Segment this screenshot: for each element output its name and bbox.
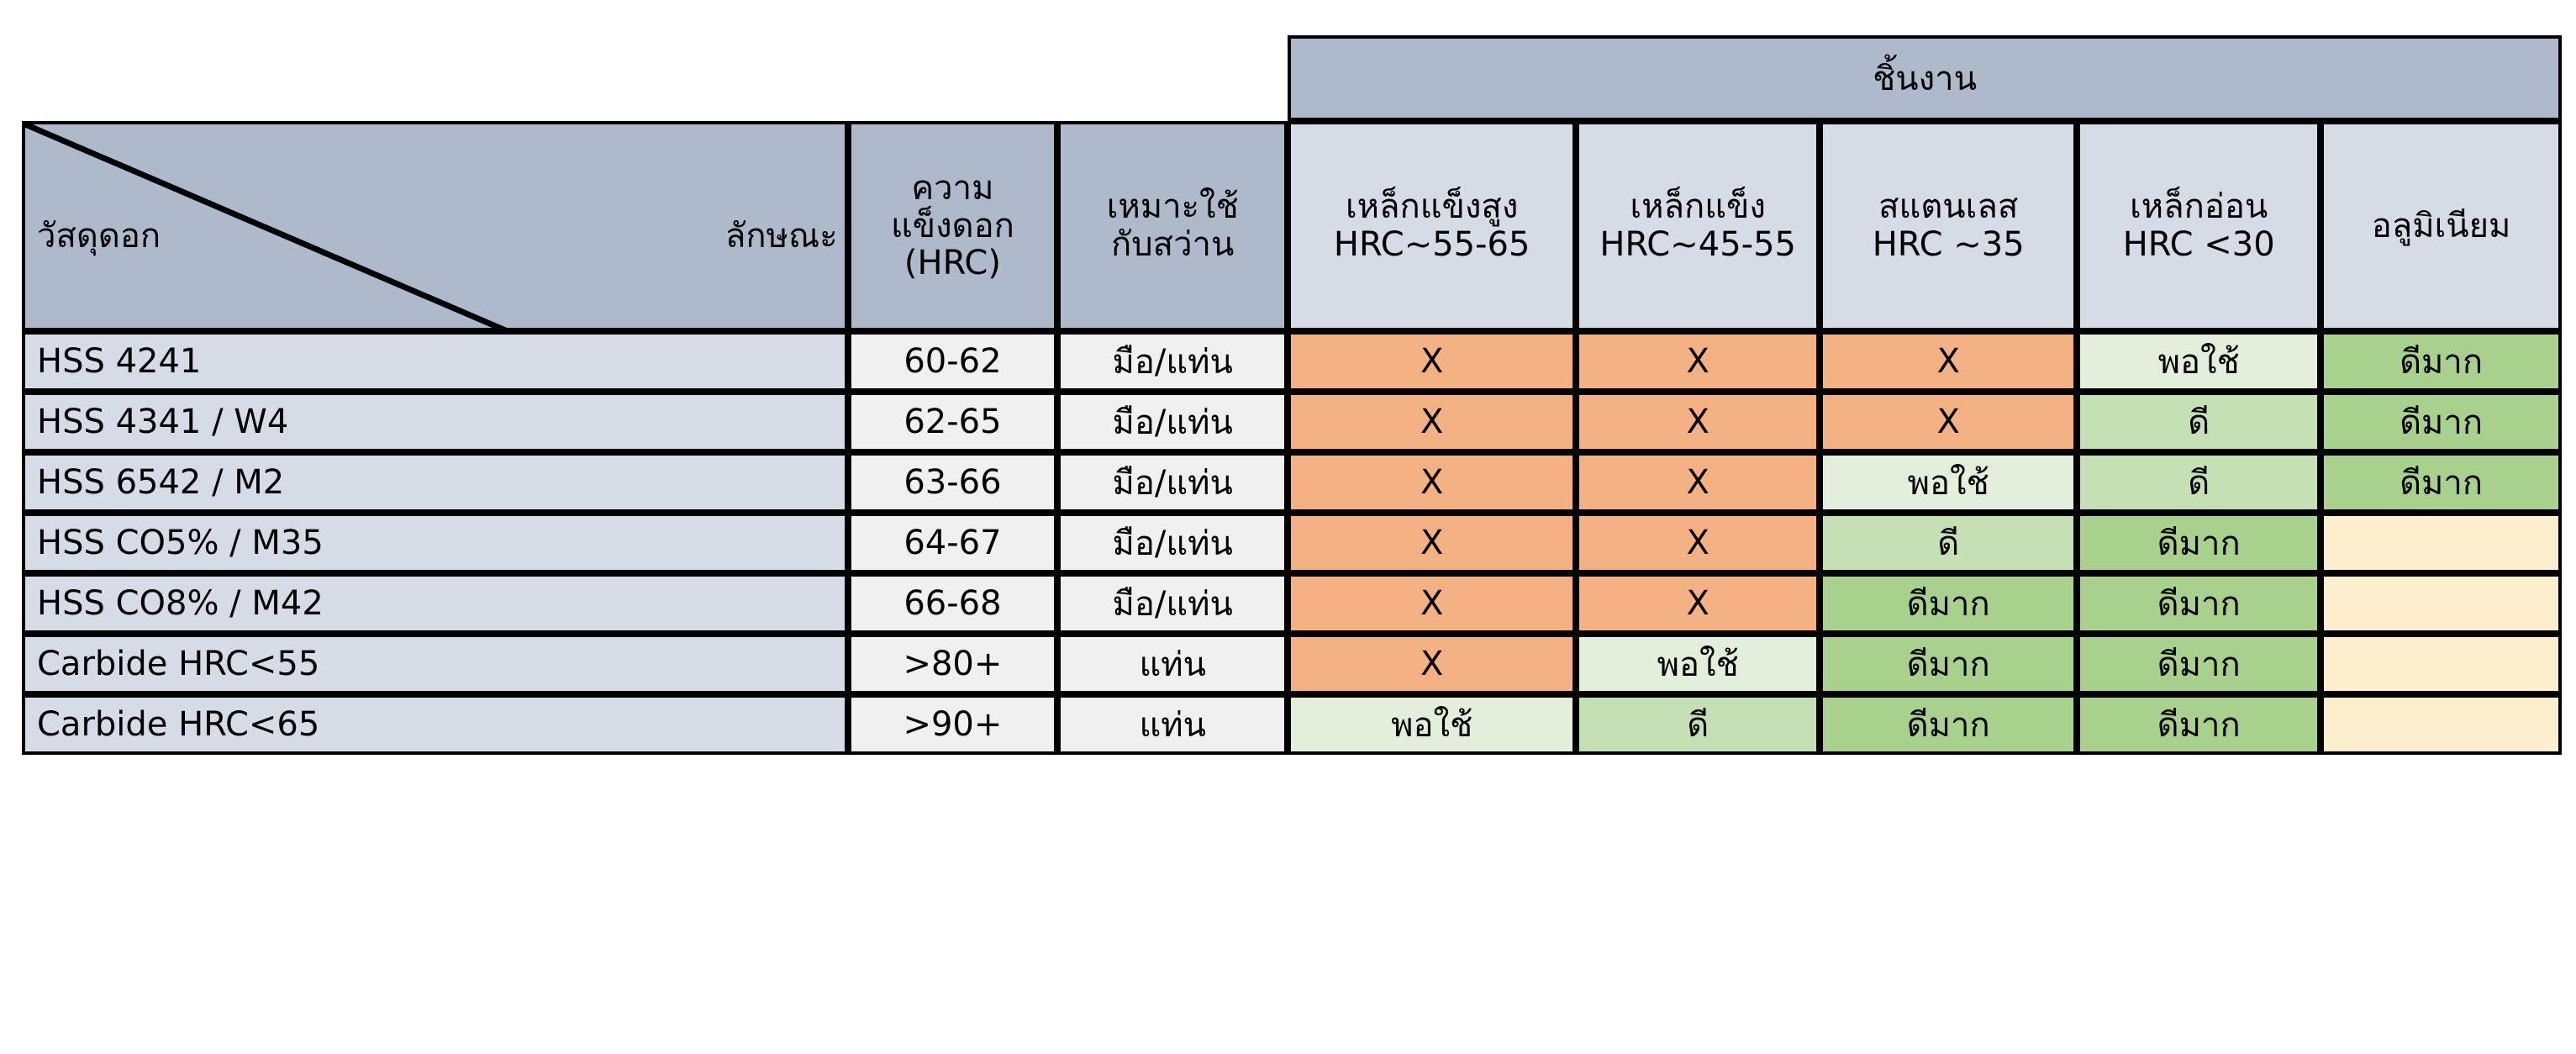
table-row: HSS CO8% / M4266-68มือ/แท่นXXดีมากดีมาก <box>22 573 2562 634</box>
column-header-mild_steel: เหล็กอ่อนHRC <30 <box>2077 121 2321 331</box>
cell-rating-mild_steel: ดีมาก <box>2077 634 2321 694</box>
cell-rating-mild_steel: ดีมาก <box>2077 694 2321 755</box>
cell-bit-hardness-hrc: >80+ <box>848 634 1058 694</box>
column-header-line: (HRC) <box>851 245 1055 282</box>
cell-drill-type: มือ/แท่น <box>1057 573 1288 634</box>
cell-rating-aluminium: ดีมาก <box>2321 392 2562 452</box>
cell-rating-stainless: พอใช้ <box>1820 452 2077 513</box>
column-header-line: HRC~45-55 <box>1579 226 1816 264</box>
corner-axis-cell: วัสดุดอกลักษณะ <box>22 121 848 331</box>
column-header-hrc: ความแข็งดอก(HRC) <box>848 121 1058 331</box>
super-header-row: ชิ้นงาน <box>22 35 2562 121</box>
cell-rating-aluminium: ดีมาก <box>2321 331 2562 392</box>
cell-bit-hardness-hrc: 64-67 <box>848 513 1058 573</box>
cell-drill-type: แท่น <box>1057 634 1288 694</box>
row-label-material: Carbide HRC<65 <box>22 694 848 755</box>
cell-rating-hard_steel: ดี <box>1576 694 1820 755</box>
row-label-material: HSS CO8% / M42 <box>22 573 848 634</box>
cell-drill-type: มือ/แท่น <box>1057 331 1288 392</box>
cell-rating-hard_steel: X <box>1576 513 1820 573</box>
cell-rating-aluminium: ดีมาก <box>2321 452 2562 513</box>
column-header-line: กับสว่าน <box>1061 226 1284 264</box>
cell-rating-mild_steel: ดีมาก <box>2077 573 2321 634</box>
cell-rating-stainless: ดีมาก <box>1820 694 2077 755</box>
cell-drill-type: มือ/แท่น <box>1057 513 1288 573</box>
cell-rating-aluminium <box>2321 513 2562 573</box>
table-row: Carbide HRC<55>80+แท่นXพอใช้ดีมากดีมาก <box>22 634 2562 694</box>
cell-bit-hardness-hrc: 66-68 <box>848 573 1058 634</box>
cell-rating-hard_steel: พอใช้ <box>1576 634 1820 694</box>
column-header-drill: เหมาะใช้กับสว่าน <box>1057 121 1288 331</box>
cell-rating-mild_steel: ดี <box>2077 452 2321 513</box>
cell-rating-hard_steel_high: พอใช้ <box>1288 694 1576 755</box>
cell-rating-aluminium <box>2321 634 2562 694</box>
cell-rating-hard_steel: X <box>1576 452 1820 513</box>
column-header-line: HRC <30 <box>2080 226 2317 264</box>
cell-rating-hard_steel_high: X <box>1288 513 1576 573</box>
cell-rating-hard_steel_high: X <box>1288 331 1576 392</box>
cell-rating-mild_steel: ดี <box>2077 392 2321 452</box>
column-header-line: อลูมิเนียม <box>2324 208 2558 245</box>
cell-rating-hard_steel_high: X <box>1288 634 1576 694</box>
cell-bit-hardness-hrc: 60-62 <box>848 331 1058 392</box>
row-label-material: Carbide HRC<55 <box>22 634 848 694</box>
column-header-line: แข็งดอก <box>851 208 1055 245</box>
cell-bit-hardness-hrc: 63-66 <box>848 452 1058 513</box>
cell-rating-stainless: X <box>1820 392 2077 452</box>
corner-row-axis-label: วัสดุดอก <box>37 208 161 262</box>
column-header-hard_steel: เหล็กแข็งHRC~45-55 <box>1576 121 1820 331</box>
cell-rating-hard_steel_high: X <box>1288 392 1576 452</box>
cell-rating-stainless: ดีมาก <box>1820 573 2077 634</box>
cell-rating-hard_steel: X <box>1576 392 1820 452</box>
drill-bit-material-matrix-table: ชิ้นงานวัสดุดอกลักษณะความแข็งดอก(HRC)เหม… <box>22 35 2562 755</box>
cell-rating-stainless: ดีมาก <box>1820 634 2077 694</box>
workpiece-group-header: ชิ้นงาน <box>1288 35 2562 121</box>
row-label-material: HSS 4341 / W4 <box>22 392 848 452</box>
cell-rating-stainless: X <box>1820 331 2077 392</box>
column-header-line: ความ <box>851 170 1055 208</box>
table-row: HSS 4341 / W462-65มือ/แท่นXXXดีดีมาก <box>22 392 2562 452</box>
row-label-material: HSS 6542 / M2 <box>22 452 848 513</box>
row-label-material: HSS CO5% / M35 <box>22 513 848 573</box>
column-header-line: HRC~55-65 <box>1291 226 1572 264</box>
table-row: Carbide HRC<65>90+แท่นพอใช้ดีดีมากดีมาก <box>22 694 2562 755</box>
column-header-aluminium: อลูมิเนียม <box>2321 121 2562 331</box>
table-row: HSS 6542 / M263-66มือ/แท่นXXพอใช้ดีดีมาก <box>22 452 2562 513</box>
cell-rating-mild_steel: พอใช้ <box>2077 331 2321 392</box>
cell-drill-type: มือ/แท่น <box>1057 392 1288 452</box>
cell-bit-hardness-hrc: >90+ <box>848 694 1058 755</box>
column-header-line: เหล็กแข็งสูง <box>1291 188 1572 226</box>
column-header-hard_steel_high: เหล็กแข็งสูงHRC~55-65 <box>1288 121 1576 331</box>
cell-bit-hardness-hrc: 62-65 <box>848 392 1058 452</box>
column-header-line: HRC ~35 <box>1823 226 2073 264</box>
super-header-spacer <box>22 35 1288 121</box>
column-header-line: เหมาะใช้ <box>1061 188 1284 226</box>
cell-drill-type: มือ/แท่น <box>1057 452 1288 513</box>
column-header-line: เหล็กอ่อน <box>2080 188 2317 226</box>
cell-rating-hard_steel_high: X <box>1288 573 1576 634</box>
table-row: HSS CO5% / M3564-67มือ/แท่นXXดีดีมาก <box>22 513 2562 573</box>
cell-rating-hard_steel: X <box>1576 573 1820 634</box>
cell-rating-hard_steel: X <box>1576 331 1820 392</box>
cell-rating-mild_steel: ดีมาก <box>2077 513 2321 573</box>
cell-drill-type: แท่น <box>1057 694 1288 755</box>
table-row: HSS 424160-62มือ/แท่นXXXพอใช้ดีมาก <box>22 331 2562 392</box>
cell-rating-stainless: ดี <box>1820 513 2077 573</box>
corner-column-axis-label: ลักษณะ <box>725 208 838 262</box>
cell-rating-aluminium <box>2321 694 2562 755</box>
cell-rating-hard_steel_high: X <box>1288 452 1576 513</box>
column-header-line: สแตนเลส <box>1823 188 2073 226</box>
row-label-material: HSS 4241 <box>22 331 848 392</box>
column-header-line: เหล็กแข็ง <box>1579 188 1816 226</box>
cell-rating-aluminium <box>2321 573 2562 634</box>
column-header-row: วัสดุดอกลักษณะความแข็งดอก(HRC)เหมาะใช้กั… <box>22 121 2562 331</box>
column-header-stainless: สแตนเลสHRC ~35 <box>1820 121 2077 331</box>
